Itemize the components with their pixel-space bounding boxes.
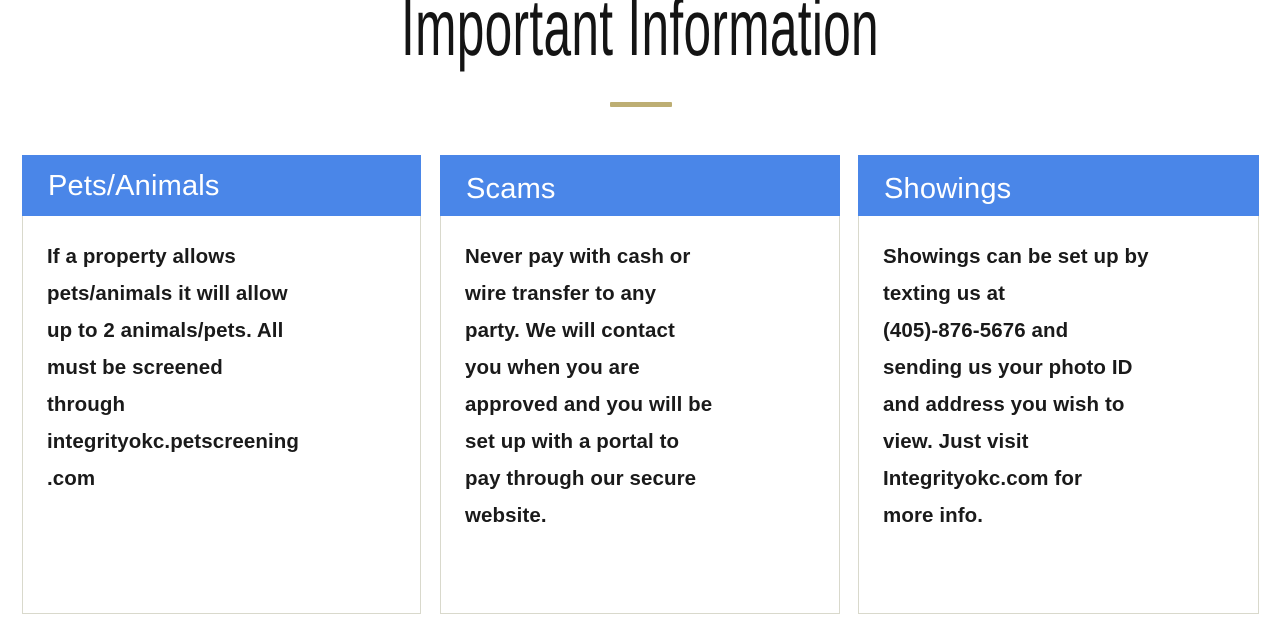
info-card-pets-animals: Pets/Animals If a property allows pets/a… — [22, 155, 421, 614]
info-cards-row: Pets/Animals If a property allows pets/a… — [22, 155, 1259, 615]
page-title: Important Information — [243, 0, 1037, 74]
title-divider — [610, 102, 672, 107]
info-card-scams: Scams Never pay with cash or wire transf… — [440, 155, 840, 614]
info-card-showings: Showings Showings can be set up by texti… — [858, 155, 1259, 614]
card-body-scams: Never pay with cash or wire transfer to … — [440, 216, 840, 614]
card-body-text: Never pay with cash or wire transfer to … — [465, 238, 829, 534]
card-header-showings: Showings — [858, 155, 1259, 216]
card-body-text: Showings can be set up by texting us at … — [883, 238, 1248, 534]
card-header-title: Scams — [466, 172, 556, 206]
card-header-pets-animals: Pets/Animals — [22, 155, 421, 216]
card-body-showings: Showings can be set up by texting us at … — [858, 216, 1259, 614]
card-header-title: Showings — [884, 172, 1011, 206]
card-header-title: Pets/Animals — [48, 169, 220, 203]
page-header: Important Information — [0, 0, 1280, 140]
card-body-pets-animals: If a property allows pets/animals it wil… — [22, 216, 421, 614]
card-body-text: If a property allows pets/animals it wil… — [47, 238, 410, 497]
card-header-scams: Scams — [440, 155, 840, 216]
